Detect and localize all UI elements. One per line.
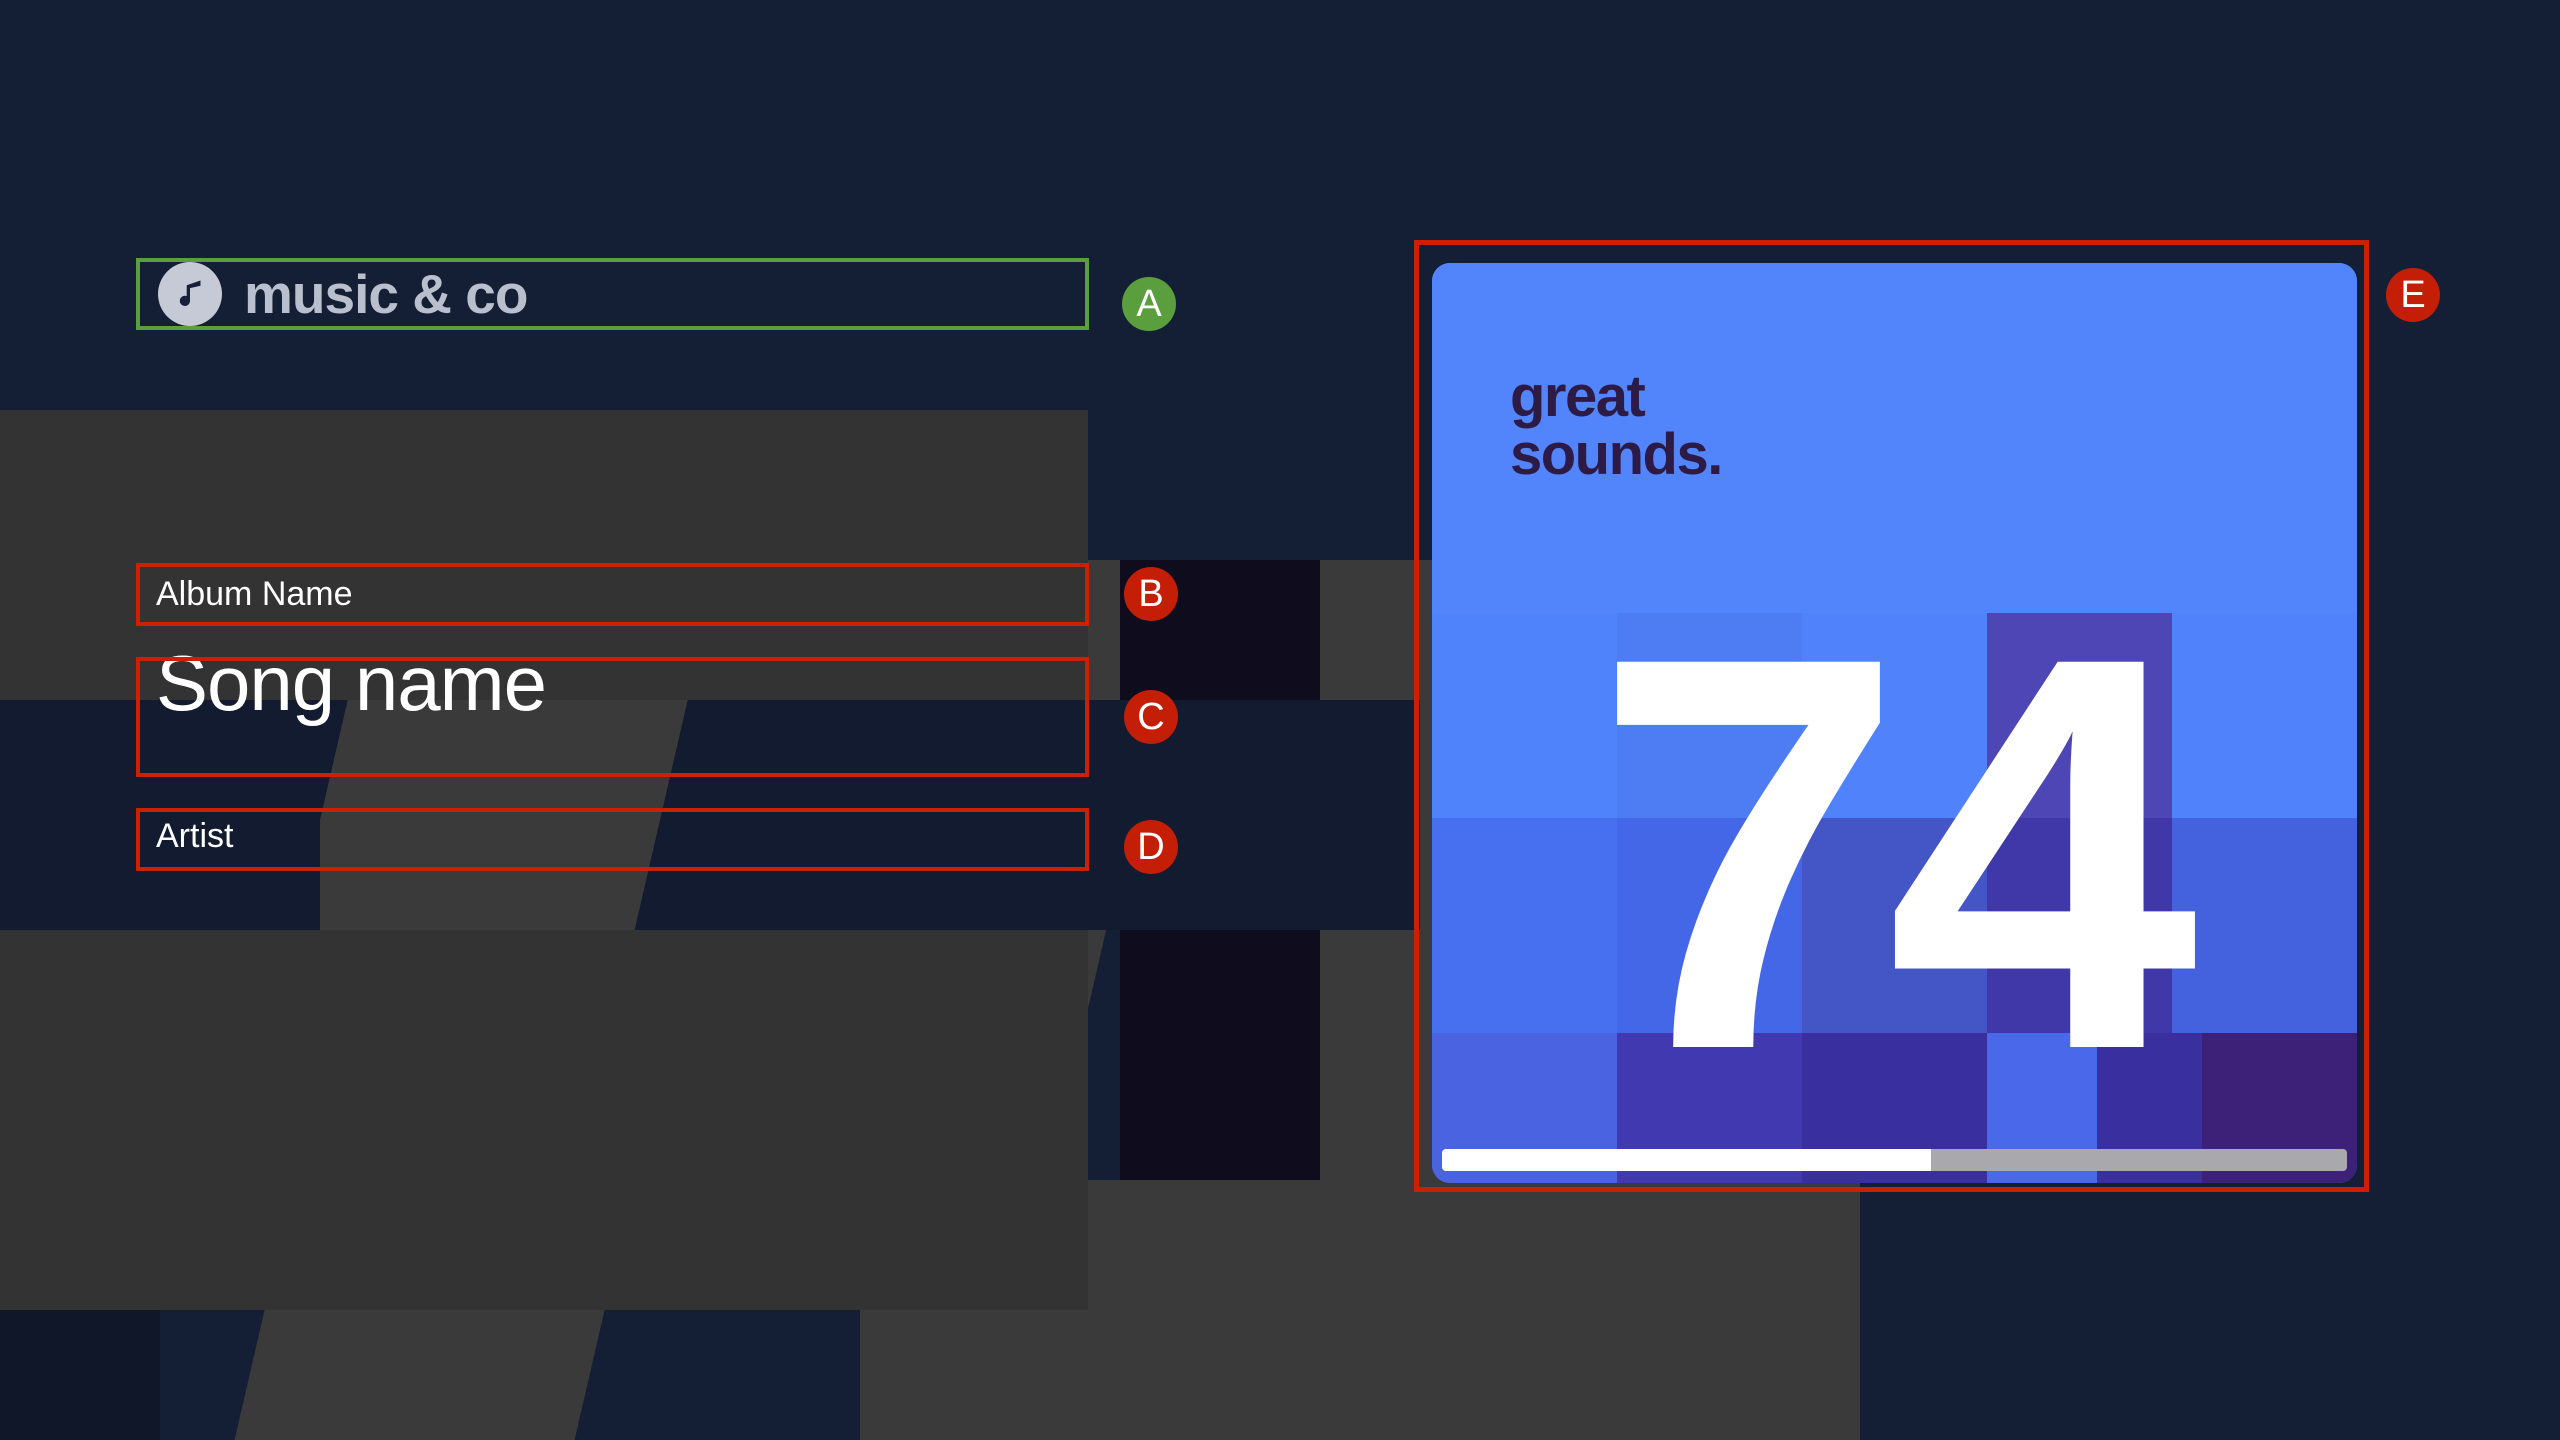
progress-bar-track[interactable] (1442, 1149, 2347, 1171)
album-number: 74 (1432, 573, 2349, 1133)
annotation-box-album (136, 563, 1089, 626)
album-caption: great sounds. (1510, 368, 1722, 484)
album-art-annotation-wrap: great sounds. 74 (1414, 240, 2369, 1192)
annotation-box-song (136, 657, 1089, 777)
album-caption-line1: great (1510, 368, 1722, 426)
album-caption-line2: sounds. (1510, 426, 1722, 484)
progress-bar-fill (1442, 1149, 1931, 1171)
bg-block-top (0, 0, 1090, 410)
badge-c: C (1124, 690, 1178, 744)
badge-a: A (1122, 277, 1176, 331)
badge-e: E (2386, 268, 2440, 322)
annotation-box-brand (136, 258, 1089, 330)
bg-block-far-right (2270, 1180, 2560, 1440)
badge-b: B (1124, 567, 1178, 621)
annotation-box-artist (136, 808, 1089, 871)
badge-d: D (1124, 820, 1178, 874)
album-art[interactable]: great sounds. 74 (1432, 263, 2357, 1183)
